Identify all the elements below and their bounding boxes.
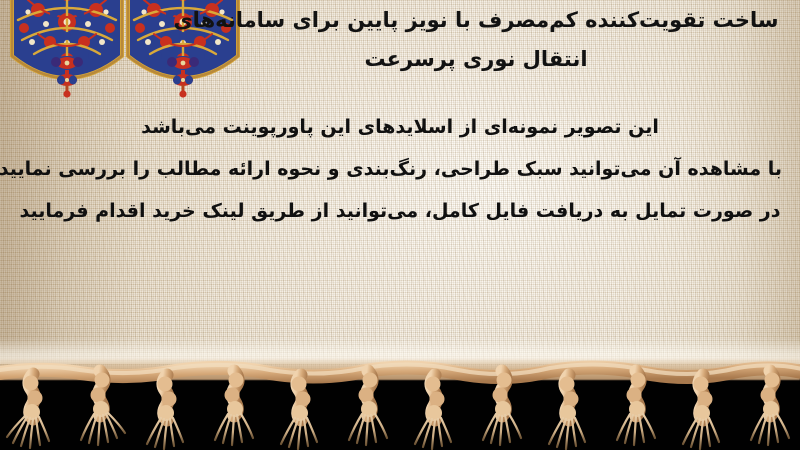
slide-title-line-1: ساخت تقویت‌کننده کم‌مصرف با نویز پایین ب… [166, 2, 786, 39]
slide-body-line-1: این تصویر نمونه‌ای از اسلایدهای این پاور… [18, 106, 782, 148]
slide-body: این تصویر نمونه‌ای از اسلایدهای این پاور… [18, 106, 782, 232]
carpet-fringe [0, 340, 800, 450]
slide-title-line-2: انتقال نوری پرسرعت [166, 41, 786, 78]
slide-body-line-3: در صورت تمایل به دریافت فایل کامل، می‌تو… [18, 190, 782, 232]
slide-title: ساخت تقویت‌کننده کم‌مصرف با نویز پایین ب… [166, 2, 786, 78]
knotted-tassel-fringe-icon [0, 340, 800, 450]
slide-canvas: ساخت تقویت‌کننده کم‌مصرف با نویز پایین ب… [0, 0, 800, 450]
slide-body-line-2: با مشاهده آن می‌توانید سبک طراحی، رنگ‌بن… [18, 148, 782, 190]
